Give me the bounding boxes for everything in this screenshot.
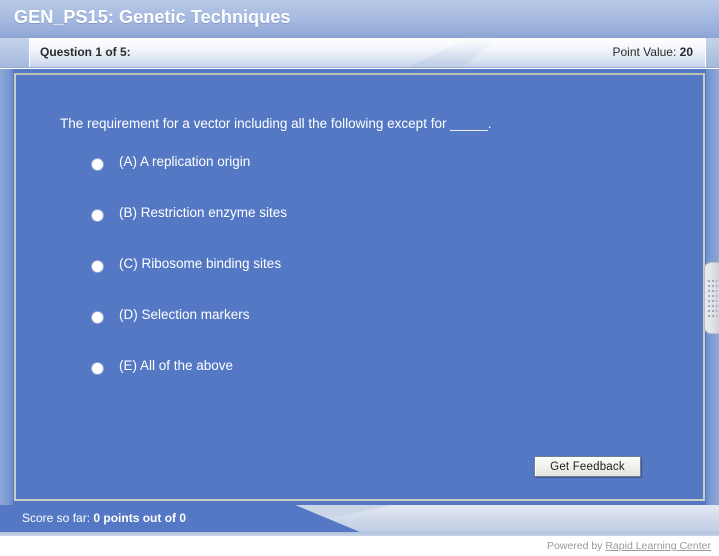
quiz-app: GEN_PS15: Genetic Techniques Question 1 … [0, 0, 719, 556]
answer-option-b[interactable]: (B) Restriction enzyme sites [92, 204, 652, 255]
qbar-left-cap [0, 38, 30, 68]
score-status: Score so far: 0 points out of 0 [22, 511, 186, 525]
answer-option-d[interactable]: (D) Selection markers [92, 306, 652, 357]
point-value-label: Point Value: [612, 45, 676, 59]
qbar-right-cap [705, 38, 719, 68]
panel-splitter-handle[interactable] [704, 262, 719, 334]
answer-option-label: (C) Ribosome binding sites [119, 255, 281, 272]
answer-option-c[interactable]: (C) Ribosome binding sites [92, 255, 652, 306]
point-value-number: 20 [680, 45, 693, 59]
question-counter: Question 1 of 5: [40, 45, 131, 59]
powered-by: Powered by Rapid Learning Center [547, 540, 711, 552]
score-label: Score so far: [22, 511, 90, 525]
left-edge-strip [0, 69, 13, 505]
point-value: Point Value: 20 [612, 45, 693, 59]
rapid-learning-center-link[interactable]: Rapid Learning Center [605, 540, 711, 552]
answer-option-e[interactable]: (E) All of the above [92, 357, 652, 408]
drag-grip-icon [708, 280, 717, 318]
title-bar: GEN_PS15: Genetic Techniques [0, 0, 719, 38]
radio-unselected-icon[interactable] [92, 159, 103, 170]
score-bar-underline [0, 532, 719, 536]
question-status-bar: Question 1 of 5: Point Value: 20 [0, 38, 719, 68]
question-text: The requirement for a vector including a… [60, 116, 660, 132]
question-panel: The requirement for a vector including a… [14, 73, 705, 501]
radio-unselected-icon[interactable] [92, 261, 103, 272]
radio-unselected-icon[interactable] [92, 210, 103, 221]
get-feedback-button[interactable]: Get Feedback [534, 456, 641, 477]
answer-options-list: (A) A replication origin (B) Restriction… [92, 153, 652, 408]
radio-unselected-icon[interactable] [92, 363, 103, 374]
answer-option-label: (A) A replication origin [119, 153, 250, 170]
answer-option-label: (D) Selection markers [119, 306, 250, 323]
score-bar: Score so far: 0 points out of 0 [0, 505, 719, 536]
content-frame: The requirement for a vector including a… [0, 69, 719, 505]
score-value: 0 points out of 0 [93, 511, 186, 525]
answer-option-label: (B) Restriction enzyme sites [119, 204, 287, 221]
answer-option-label: (E) All of the above [119, 357, 233, 374]
radio-unselected-icon[interactable] [92, 312, 103, 323]
answer-option-a[interactable]: (A) A replication origin [92, 153, 652, 204]
page-title: GEN_PS15: Genetic Techniques [14, 7, 291, 28]
powered-by-label: Powered by [547, 540, 602, 552]
